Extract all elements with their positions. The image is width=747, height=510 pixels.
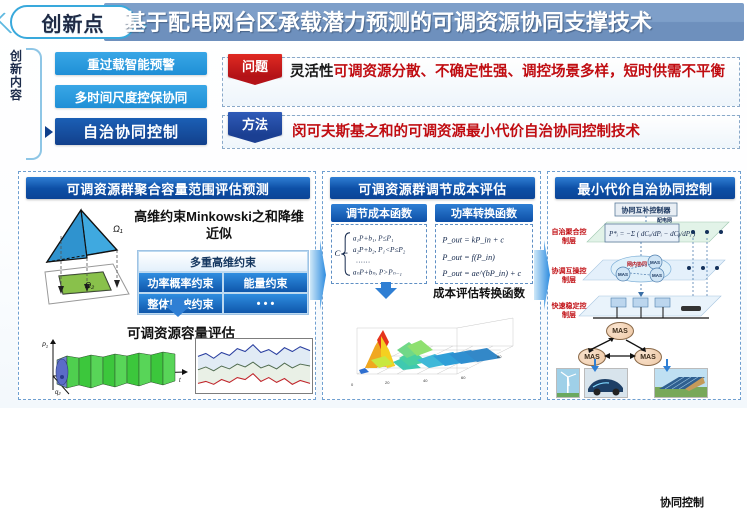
table-cell: • • •: [223, 293, 308, 314]
svg-text:P*ᵢ = −Σ ( dCₐ/dPᵢ − dCᵦ/dPⱼ ): P*ᵢ = −Σ ( dCₐ/dPᵢ − dCᵦ/dPⱼ ): [608, 230, 696, 238]
layer-label-fast-response: 快速稳定控制层: [551, 302, 587, 320]
cost-line-2: a₂P+b₂, P₁<P≤P₂: [353, 246, 406, 254]
problem-text-lead: 灵活性: [290, 64, 334, 80]
panel-connector-arrow-2: [534, 230, 550, 320]
panel-title: 可调资源群聚合容量范围评估预测: [26, 177, 310, 199]
sidebar-item-autonomous-control[interactable]: 自治协同控制: [55, 118, 207, 145]
problem-banner: 问题 灵活性可调资源分散、不确定性强、调控场景多样，短时供需不平衡: [222, 57, 740, 107]
sidebar-item-label: 自治协同控制: [83, 121, 179, 142]
sidebar-vertical-label: 创新内容: [4, 48, 30, 158]
label-omega1: Ω₁: [113, 224, 123, 234]
power-formula-box: P_out = kP_in + c P_out = f(P_in) P_out …: [435, 224, 533, 284]
table-cell: 能量约束: [223, 272, 308, 293]
grid-note: 配电网: [657, 217, 672, 224]
page-title: 基于配电网台区承载潜力预测的可调资源协同支撑技术: [124, 8, 738, 38]
method-banner: 方法 闵可夫斯基之和的可调资源最小代价自治协同控制技术: [222, 115, 740, 149]
arrow-down-icon: [375, 288, 397, 299]
power-formula-svg: P_out = kP_in + c P_out = f(P_in) P_out …: [436, 225, 532, 283]
problem-tag-label: 问题: [242, 56, 268, 75]
label-omega2: Ω₂: [85, 281, 94, 290]
cost-formula-box: C = a₁P+b₁, P≤P₁ a₂P+b₂, P₁<P≤P₂ …… aₙP+…: [331, 224, 427, 284]
svg-text:t: t: [179, 378, 181, 384]
layer-label-coordination: 协调互操控制层: [551, 267, 587, 285]
ribbon-tail-icon: [228, 77, 282, 85]
svg-text:20: 20: [385, 380, 390, 385]
arrow-down-icon: [660, 358, 674, 372]
svg-text:P₁: P₁: [42, 343, 48, 349]
constraints-table: 多重高维约束 功率概率约束 能量约束 整体爬坡约束 • • •: [137, 250, 309, 315]
power-line-1: P_out = kP_in + c: [441, 235, 504, 244]
panel1-heading: 高维约束Minkowski之和降维近似: [129, 208, 309, 242]
cost-line-1: a₁P+b₁, P≤P₁: [353, 234, 394, 242]
cost-line-3: ……: [356, 257, 371, 265]
slide-root: 创新点 基于配电网台区承载潜力预测的可调资源协同支撑技术 创新内容 重过载智能预…: [0, 0, 747, 408]
cost-surface-plot: 0 20 40 60 80: [337, 312, 527, 396]
arrow-down-icon: [165, 305, 191, 317]
sidebar-vertical-text: 创新内容: [6, 50, 26, 102]
svg-text:40: 40: [423, 378, 428, 383]
cost-formula-svg: C = a₁P+b₁, P≤P₁ a₂P+b₂, P₁<P≤P₂ …… aₙP+…: [332, 225, 426, 283]
mas-links: [570, 320, 670, 370]
header-tag-label: 创新点: [42, 8, 105, 37]
svg-text:MAS: MAS: [618, 272, 628, 277]
photo-solar-panels: [654, 368, 708, 398]
capacity-tube-figure: P₁ t q₂: [39, 338, 189, 396]
svg-text:60: 60: [461, 375, 466, 380]
arrow-down-icon: [588, 358, 602, 372]
method-text: 闵可夫斯基之和的可调资源最小代价自治协同控制技术: [292, 123, 732, 142]
cost-formula-lhs: C =: [335, 248, 349, 258]
problem-text-body: 可调资源分散、不确定性强、调控场景多样，短时供需不平衡: [334, 64, 726, 80]
panel-title: 最小代价自治协同控制: [555, 177, 735, 199]
sidebar-item-overload-warning[interactable]: 重过载智能预警: [55, 52, 207, 75]
method-tag-label: 方法: [242, 114, 268, 133]
table-row: 整体爬坡约束 • • •: [138, 293, 308, 314]
problem-text: 灵活性可调资源分散、不确定性强、调控场景多样，短时供需不平衡: [290, 63, 734, 82]
sidebar-item-multiscale-coordination[interactable]: 多时间尺度控保协同: [55, 85, 207, 108]
panel-title: 可调资源群调节成本评估: [330, 177, 535, 199]
panel-cost-assessment: 可调资源群调节成本评估 调节成本函数 功率转换函数 C = a₁P+b₁, P≤…: [322, 171, 541, 400]
panel3-caption: 协同控制: [660, 494, 704, 510]
method-tag: 方法: [228, 112, 282, 143]
capacity-forecast-chart: [195, 338, 313, 394]
svg-text:80: 80: [497, 354, 502, 359]
cost-line-4: aₙP+bₙ, P>Pₙ₋₁: [353, 268, 402, 276]
mas-cluster-label: 网内协同: [627, 261, 647, 268]
subheader-power-function: 功率转换函数: [435, 204, 533, 222]
controller-label: 协同互补控制器: [622, 206, 672, 215]
slide-header: 创新点 基于配电网台区承载潜力预测的可调资源协同支撑技术: [0, 2, 747, 44]
photo-ev-charging: [584, 368, 628, 398]
svg-text:MAS: MAS: [650, 260, 660, 265]
table-row: 功率概率约束 能量约束: [138, 272, 308, 293]
svg-text:MAS: MAS: [652, 273, 662, 278]
table-header-cell: 多重高维约束: [138, 251, 308, 272]
minkowski-projection-figure: Ω₁ Ω₂: [41, 206, 137, 310]
header-tag: 创新点: [10, 5, 136, 39]
problem-tag: 问题: [228, 54, 282, 85]
active-item-marker-icon: [45, 126, 53, 138]
sidebar-item-label: 多时间尺度控保协同: [75, 87, 188, 106]
panel-capacity-range: 可调资源群聚合容量范围评估预测 Ω₁ Ω₂ 高维约束Minkowski之和降维近…: [18, 171, 316, 400]
sidebar-bracket: [26, 48, 42, 160]
photo-wind-turbine: [556, 368, 580, 398]
panel-connector-arrow-1: [310, 230, 326, 320]
power-line-3: P_out = ae^(bP_in) + c: [441, 269, 521, 278]
svg-text:q₂: q₂: [55, 390, 61, 396]
ribbon-tail-icon: [228, 135, 282, 143]
panel-autonomous-control: 最小代价自治协同控制 协同互补控制器 P*ᵢ = −Σ ( dCₐ/dPᵢ − …: [547, 171, 741, 400]
power-line-2: P_out = f(P_in): [441, 253, 495, 262]
panel2-sub-caption: 成本评估转换函数: [427, 287, 531, 301]
table-cell: 功率概率约束: [138, 272, 223, 293]
layer-label-aggregation: 自治聚合控制层: [551, 228, 587, 246]
sidebar-item-label: 重过载智能预警: [87, 54, 175, 73]
method-text-body: 闵可夫斯基之和的可调资源最小代价自治协同控制技术: [292, 124, 640, 140]
subheader-cost-function: 调节成本函数: [331, 204, 427, 222]
